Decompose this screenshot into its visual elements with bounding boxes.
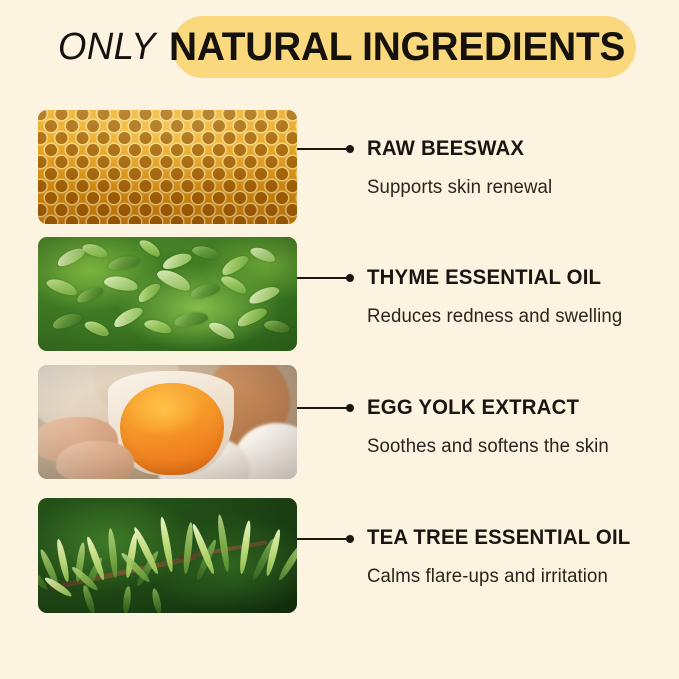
ingredient-text-2: THYME ESSENTIAL OIL Reduces redness and … xyxy=(367,267,628,326)
egg-yolk-photo xyxy=(38,365,297,479)
connector-line-2 xyxy=(297,272,357,284)
ingredient-name: EGG YOLK EXTRACT xyxy=(367,397,606,418)
ingredient-text-1: RAW BEESWAX Supports skin renewal xyxy=(367,138,556,197)
ingredient-name: THYME ESSENTIAL OIL xyxy=(367,267,620,288)
page-header: ONLY NATURAL INGREDIENTS xyxy=(0,0,679,100)
ingredient-name: TEA TREE ESSENTIAL OIL xyxy=(367,527,630,548)
ingredient-benefit: Calms flare-ups and irritation xyxy=(367,567,633,586)
ingredient-name: RAW BEESWAX xyxy=(367,138,550,159)
thyme-photo xyxy=(38,237,297,351)
page-title: ONLY NATURAL INGREDIENTS xyxy=(58,16,639,78)
connector-line-1 xyxy=(297,143,357,155)
honeycomb-photo xyxy=(38,110,297,224)
ingredient-text-4: TEA TREE ESSENTIAL OIL Calms flare-ups a… xyxy=(367,527,639,586)
connector-line-4 xyxy=(297,533,357,545)
title-prefix: ONLY xyxy=(58,28,165,66)
ingredient-benefit: Reduces redness and swelling xyxy=(367,307,622,326)
tea-tree-photo xyxy=(38,498,297,613)
ingredient-benefit: Supports skin renewal xyxy=(367,178,552,197)
connector-line-3 xyxy=(297,402,357,414)
title-highlight-text: NATURAL INGREDIENTS xyxy=(169,27,625,67)
ingredient-benefit: Soothes and softens the skin xyxy=(367,437,609,456)
ingredient-text-3: EGG YOLK EXTRACT Soothes and softens the… xyxy=(367,397,614,456)
